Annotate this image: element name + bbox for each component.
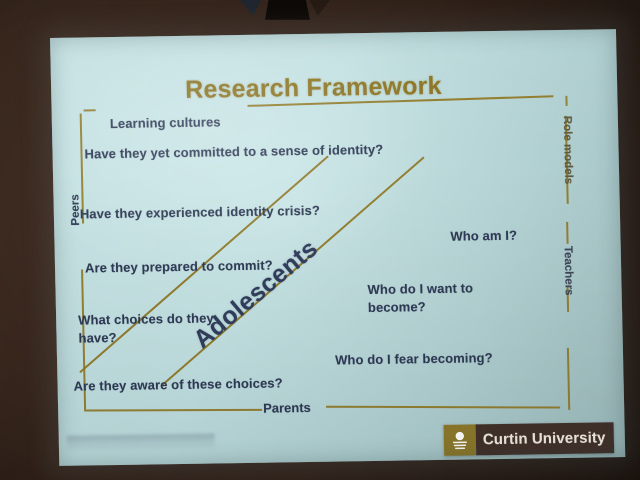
axis-tick-top-left: [84, 109, 96, 111]
curtin-emblem-icon: [444, 424, 477, 455]
axis-line-bottom-right: [326, 406, 560, 409]
ceiling-projector-icon: [262, 0, 312, 20]
question-who-am-i: Who am I?: [450, 226, 580, 246]
question-learning-cultures: Learning cultures: [110, 112, 310, 133]
question-prepared-to-commit: Are they prepared to commit?: [85, 255, 345, 277]
axis-line-right-5: [567, 348, 570, 410]
question-what-choices: What choices do they have?: [78, 309, 239, 347]
question-committed-to-identity: Have they yet committed to a sense of id…: [84, 140, 414, 163]
slide-footer-note: [67, 433, 215, 450]
axis-label-teachers: Teachers: [562, 246, 575, 296]
screenshot-stage: Research Framework Peers Role models Tea…: [0, 0, 640, 480]
projected-slide: Research Framework Peers Role models Tea…: [50, 29, 625, 466]
question-identity-crisis: Have they experienced identity crisis?: [80, 201, 380, 223]
question-who-do-i-fear-becoming: Who do I fear becoming?: [335, 348, 565, 369]
question-aware-of-choices: Are they aware of these choices?: [73, 373, 353, 395]
curtin-university-logo: Curtin University: [444, 422, 614, 456]
axis-line-bottom-left: [84, 409, 262, 412]
axis-label-parents: Parents: [263, 400, 311, 416]
axis-label-role-models: Role models: [561, 116, 574, 185]
slide-surface: Research Framework Peers Role models Tea…: [50, 29, 625, 466]
axis-line-right-1: [565, 96, 567, 106]
logo-wordmark: Curtin University: [476, 422, 614, 455]
question-who-do-i-want-to-become: Who do I want to become?: [367, 279, 518, 316]
